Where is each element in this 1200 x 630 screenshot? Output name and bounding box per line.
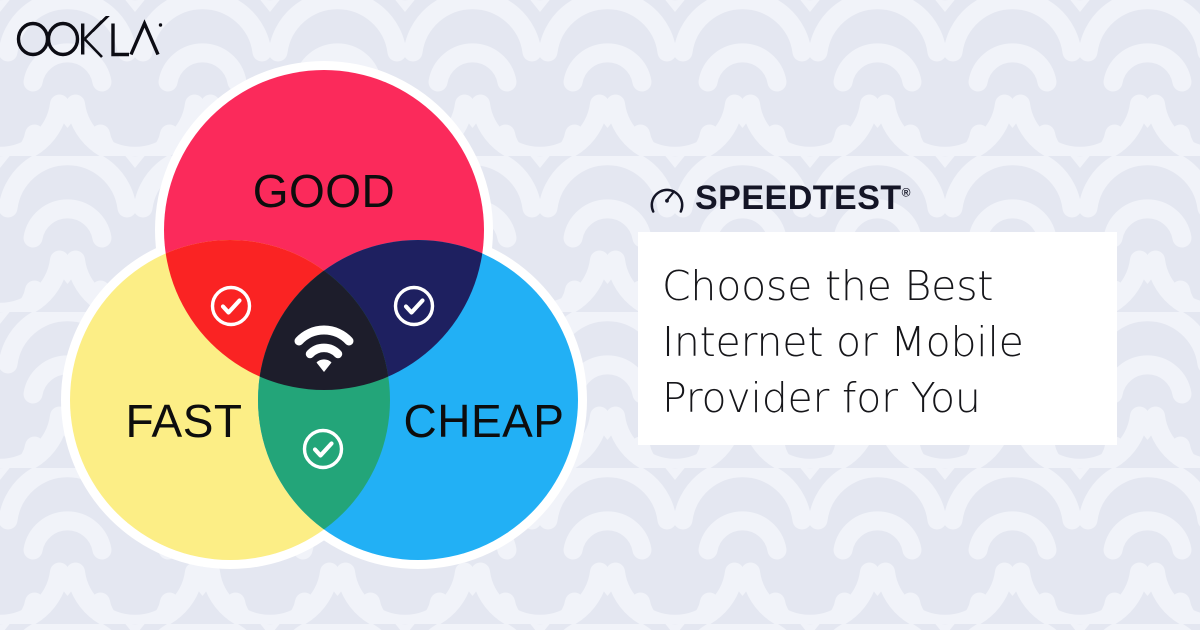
venn-diagram: GOOD FAST CHEAP [40, 50, 610, 580]
venn-label-cheap: CHEAP [404, 395, 565, 447]
speedometer-icon [650, 181, 684, 215]
headline-card: Choose the Best Internet or Mobile Provi… [638, 232, 1117, 445]
registered-mark: ® [902, 186, 911, 200]
speedtest-wordmark: SPEEDTEST® [695, 181, 911, 215]
speedtest-wordmark-text: SPEEDTEST [695, 179, 902, 217]
speedtest-logo: SPEEDTEST® [638, 176, 1120, 220]
promo-banner: GOOD FAST CHEAP [0, 0, 1200, 630]
page-title: Choose the Best Internet or Mobile Provi… [662, 258, 1093, 426]
venn-label-good: GOOD [253, 165, 396, 217]
right-content-column: SPEEDTEST® Choose the Best Internet or M… [638, 176, 1120, 445]
venn-label-fast: FAST [125, 395, 242, 447]
